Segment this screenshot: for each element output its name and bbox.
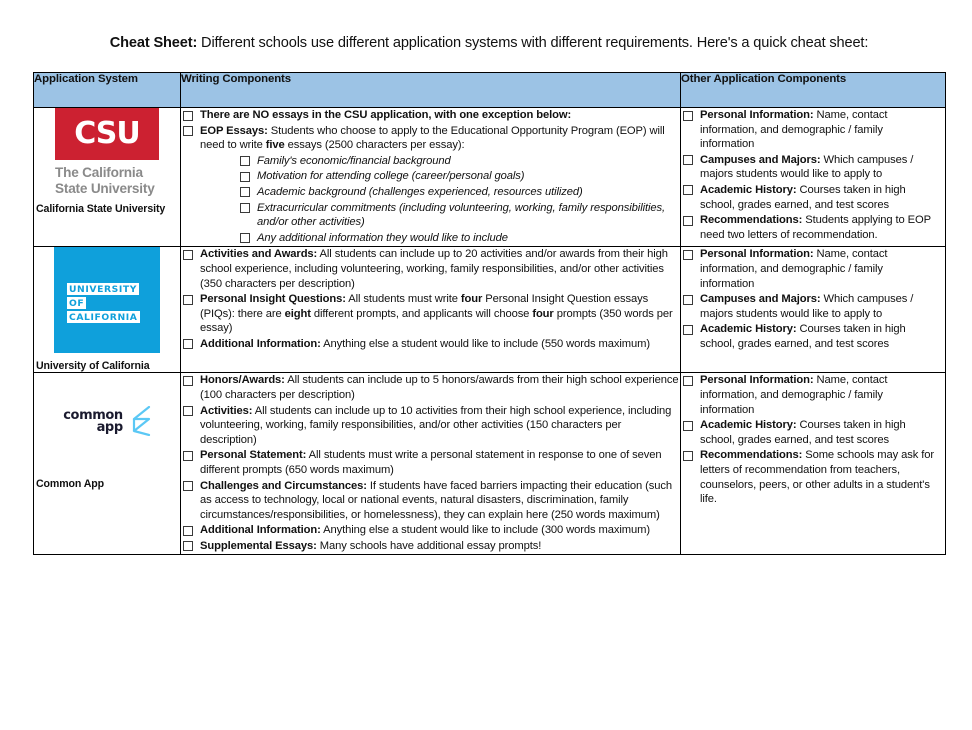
item-text: All students can include up to 10 activi… <box>200 405 671 446</box>
list-item: Family's economic/financial background <box>238 154 680 169</box>
list-item: Supplemental Essays: Many schools have a… <box>181 539 680 554</box>
checkbox-icon[interactable] <box>183 481 193 491</box>
item-text: Academic background (challenges experien… <box>257 186 583 198</box>
item-text: Family's economic/financial background <box>257 155 451 167</box>
intro-label: Cheat Sheet: <box>110 35 197 51</box>
checklist: There are NO essays in the CSU applicati… <box>181 108 680 245</box>
item-label: Personal Statement: <box>200 449 306 461</box>
common-app-logo-wordmark: common app <box>63 410 123 435</box>
item-text: Anything else a student would like to in… <box>321 524 650 536</box>
intro-text: Different schools use different applicat… <box>197 35 868 51</box>
checkbox-icon[interactable] <box>183 295 193 305</box>
item-text: There are NO essays in the CSU applicati… <box>200 109 571 121</box>
system-name-uc: University of California <box>34 360 150 372</box>
csu-logo-subtitle-line2: State University <box>55 181 159 197</box>
common-app-chevron-icon <box>125 406 151 436</box>
checkbox-icon[interactable] <box>183 376 193 386</box>
checkbox-icon[interactable] <box>683 421 693 431</box>
system-name-commonapp: Common App <box>34 478 104 490</box>
checkbox-icon[interactable] <box>240 233 250 243</box>
item-emphasis: eight <box>285 308 311 320</box>
uc-logo-line2: OF <box>67 297 86 309</box>
system-cell-uc: UNIVERSITY OF CALIFORNIA University of C… <box>34 247 181 373</box>
table-row: common app Common App Honor <box>34 373 946 555</box>
csu-logo-subtitle: The California State University <box>55 165 159 196</box>
checkbox-icon[interactable] <box>183 451 193 461</box>
common-app-logo-word2: app <box>63 422 123 435</box>
item-text: All students must write <box>346 293 461 305</box>
checkbox-icon[interactable] <box>183 526 193 536</box>
list-item: Personal Information: Name, contact info… <box>681 247 939 291</box>
list-item: Activities and Awards: All students can … <box>181 247 680 291</box>
checkbox-icon[interactable] <box>240 172 250 182</box>
checkbox-icon[interactable] <box>183 541 193 551</box>
item-label: EOP Essays: <box>200 125 268 137</box>
item-label: Recommendations: <box>700 449 802 461</box>
checkbox-icon[interactable] <box>683 250 693 260</box>
item-text: Anything else a student would like to in… <box>321 338 650 350</box>
checkbox-icon[interactable] <box>240 156 250 166</box>
list-item: Personal Information: Name, contact info… <box>681 108 939 152</box>
item-label: Academic History: <box>700 184 797 196</box>
item-label: Recommendations: <box>700 214 802 226</box>
system-cell-csu: CSU The California State University Cali… <box>34 108 181 247</box>
writing-components-uc: Activities and Awards: All students can … <box>181 247 681 373</box>
other-components-uc: Personal Information: Name, contact info… <box>681 247 946 373</box>
list-item: Campuses and Majors: Which campuses / ma… <box>681 292 939 321</box>
csu-logo-mark: CSU <box>55 108 159 160</box>
list-item: Honors/Awards: All students can include … <box>181 373 680 402</box>
checkbox-icon[interactable] <box>683 451 693 461</box>
list-item: Academic background (challenges experien… <box>238 185 680 200</box>
list-item: Recommendations: Students applying to EO… <box>681 213 939 242</box>
checkbox-icon[interactable] <box>183 339 193 349</box>
table-row: CSU The California State University Cali… <box>34 108 946 247</box>
item-text: Extracurricular commitments (including v… <box>257 202 665 229</box>
checklist: Personal Information: Name, contact info… <box>681 108 939 242</box>
list-item: Additional Information: Anything else a … <box>181 523 680 538</box>
item-label: Supplemental Essays: <box>200 540 317 552</box>
item-label: Challenges and Circumstances: <box>200 480 367 492</box>
sub-checklist: Family's economic/financial background M… <box>238 154 680 246</box>
university-of-california-logo: UNIVERSITY OF CALIFORNIA <box>54 247 160 353</box>
item-label: Academic History: <box>700 323 797 335</box>
checklist: Personal Information: Name, contact info… <box>681 247 939 351</box>
item-text: Many schools have additional essay promp… <box>317 540 541 552</box>
checkbox-icon[interactable] <box>183 250 193 260</box>
item-emphasis: five <box>266 139 285 151</box>
item-label: Honors/Awards: <box>200 374 285 386</box>
item-label: Personal Information: <box>700 109 814 121</box>
item-text: Any additional information they would li… <box>257 232 508 244</box>
list-item: Academic History: Courses taken in high … <box>681 418 939 447</box>
uc-logo-line1: UNIVERSITY <box>67 283 139 295</box>
list-item: There are NO essays in the CSU applicati… <box>181 108 680 123</box>
checkbox-icon[interactable] <box>683 325 693 335</box>
checkbox-icon[interactable] <box>240 203 250 213</box>
list-item: Personal Information: Name, contact info… <box>681 373 939 417</box>
checkbox-icon[interactable] <box>183 126 193 136</box>
list-item: Academic History: Courses taken in high … <box>681 322 939 351</box>
writing-components-commonapp: Honors/Awards: All students can include … <box>181 373 681 555</box>
checkbox-icon[interactable] <box>683 295 693 305</box>
other-components-csu: Personal Information: Name, contact info… <box>681 108 946 247</box>
list-item: Additional Information: Anything else a … <box>181 337 680 352</box>
list-item: Campuses and Majors: Which campuses / ma… <box>681 153 939 182</box>
column-header-application-system: Application System <box>34 73 181 108</box>
list-item: Personal Insight Questions: All students… <box>181 292 680 336</box>
item-label: Academic History: <box>700 419 797 431</box>
checkbox-icon[interactable] <box>683 216 693 226</box>
csu-logo-text: CSU <box>74 119 140 149</box>
item-label: Personal Insight Questions: <box>200 293 346 305</box>
checkbox-icon[interactable] <box>683 111 693 121</box>
list-item: Any additional information they would li… <box>238 231 680 246</box>
item-label: Additional Information: <box>200 338 321 350</box>
item-label: Campuses and Majors: <box>700 154 820 166</box>
cheat-sheet-page: Cheat Sheet: Different schools use diffe… <box>0 0 972 730</box>
csu-logo: CSU The California State University <box>55 108 159 196</box>
list-item: Activities: All students can include up … <box>181 404 680 448</box>
table-row: UNIVERSITY OF CALIFORNIA University of C… <box>34 247 946 373</box>
list-item: Personal Statement: All students must wr… <box>181 448 680 477</box>
item-label: Additional Information: <box>200 524 321 536</box>
other-components-commonapp: Personal Information: Name, contact info… <box>681 373 946 555</box>
checkbox-icon[interactable] <box>683 185 693 195</box>
intro-line: Cheat Sheet: Different schools use diffe… <box>33 34 945 52</box>
checklist: Activities and Awards: All students can … <box>181 247 680 351</box>
writing-components-csu: There are NO essays in the CSU applicati… <box>181 108 681 247</box>
list-item: EOP Essays: Students who choose to apply… <box>181 124 680 246</box>
checkbox-icon[interactable] <box>240 187 250 197</box>
item-label: Personal Information: <box>700 248 814 260</box>
list-item: Extracurricular commitments (including v… <box>238 201 680 230</box>
item-emphasis: four <box>532 308 553 320</box>
list-item: Motivation for attending college (career… <box>238 169 680 184</box>
item-label: Activities: <box>200 405 252 417</box>
column-header-writing-components: Writing Components <box>181 73 681 108</box>
item-label: Campuses and Majors: <box>700 293 820 305</box>
item-text: different prompts, and applicants will c… <box>311 308 532 320</box>
checkbox-icon[interactable] <box>183 406 193 416</box>
system-cell-commonapp: common app Common App <box>34 373 181 555</box>
list-item: Academic History: Courses taken in high … <box>681 183 939 212</box>
checklist: Personal Information: Name, contact info… <box>681 373 939 506</box>
common-app-logo: common app <box>54 399 160 445</box>
checkbox-icon[interactable] <box>683 155 693 165</box>
item-emphasis: four <box>461 293 482 305</box>
checkbox-icon[interactable] <box>183 111 193 121</box>
checkbox-icon[interactable] <box>683 376 693 386</box>
checklist: Honors/Awards: All students can include … <box>181 373 680 553</box>
list-item: Recommendations: Some schools may ask fo… <box>681 448 939 506</box>
csu-logo-subtitle-line1: The California <box>55 165 159 181</box>
item-label: Activities and Awards: <box>200 248 317 260</box>
column-header-other-application-components: Other Application Components <box>681 73 946 108</box>
application-systems-table: Application System Writing Components Ot… <box>33 72 946 555</box>
item-label: Personal Information: <box>700 374 814 386</box>
item-text: Motivation for attending college (career… <box>257 170 524 182</box>
uc-logo-line3: CALIFORNIA <box>67 311 140 323</box>
table-header-row: Application System Writing Components Ot… <box>34 73 946 108</box>
item-text-cont: essays (2500 characters per essay): <box>285 139 465 151</box>
list-item: Challenges and Circumstances: If student… <box>181 479 680 523</box>
system-name-csu: California State University <box>34 203 165 215</box>
